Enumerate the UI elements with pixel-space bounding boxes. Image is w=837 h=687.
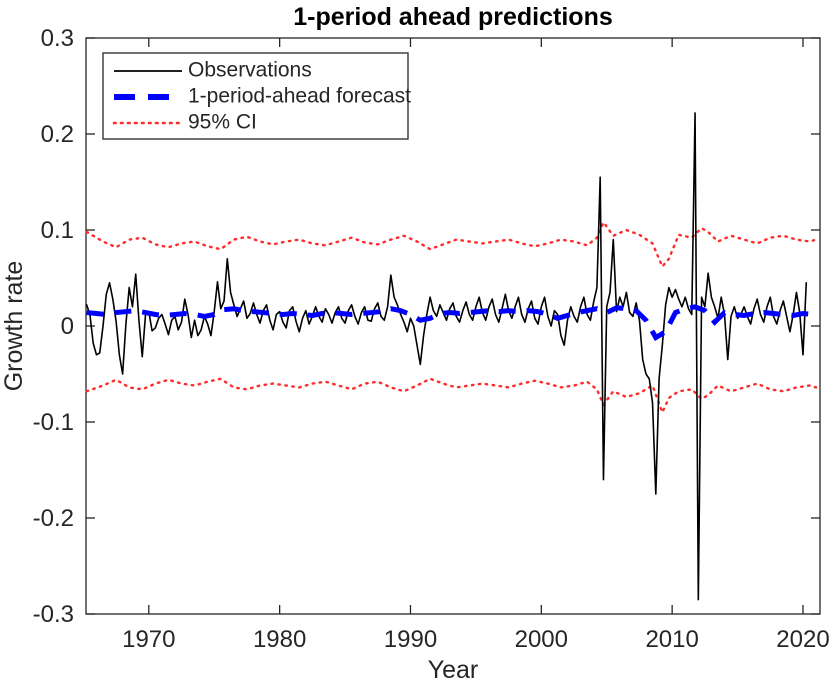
x-axis-title: Year	[428, 656, 479, 684]
figure-container: 1-period ahead predictions 0.30.20.10-0.…	[0, 0, 837, 687]
legend-label: Observations	[188, 59, 312, 82]
y-axis-title: Growth rate	[0, 261, 28, 392]
chart-canvas: 1-period ahead predictions 0.30.20.10-0.…	[0, 0, 837, 687]
y-tick-label: -0.2	[33, 505, 74, 532]
x-tick-label: 2010	[645, 626, 698, 653]
y-tick-label: 0.2	[41, 121, 74, 148]
legend-label: 1-period-ahead forecast	[188, 85, 411, 108]
x-tick-label: 2000	[515, 626, 568, 653]
y-tick-label: 0	[61, 313, 74, 340]
x-tick-label: 1970	[122, 626, 175, 653]
chart-legend[interactable]: Observations1-period-ahead forecast95% C…	[103, 53, 411, 139]
x-tick-label: 1980	[253, 626, 306, 653]
y-tick-label: 0.3	[41, 25, 74, 52]
y-tick-label: -0.3	[33, 601, 74, 628]
x-tick-label: 1990	[384, 626, 437, 653]
x-tick-label: 2020	[776, 626, 829, 653]
chart-title: 1-period ahead predictions	[293, 3, 613, 31]
legend-label: 95% CI	[188, 111, 257, 134]
y-tick-label: -0.1	[33, 409, 74, 436]
y-tick-label: 0.1	[41, 217, 74, 244]
